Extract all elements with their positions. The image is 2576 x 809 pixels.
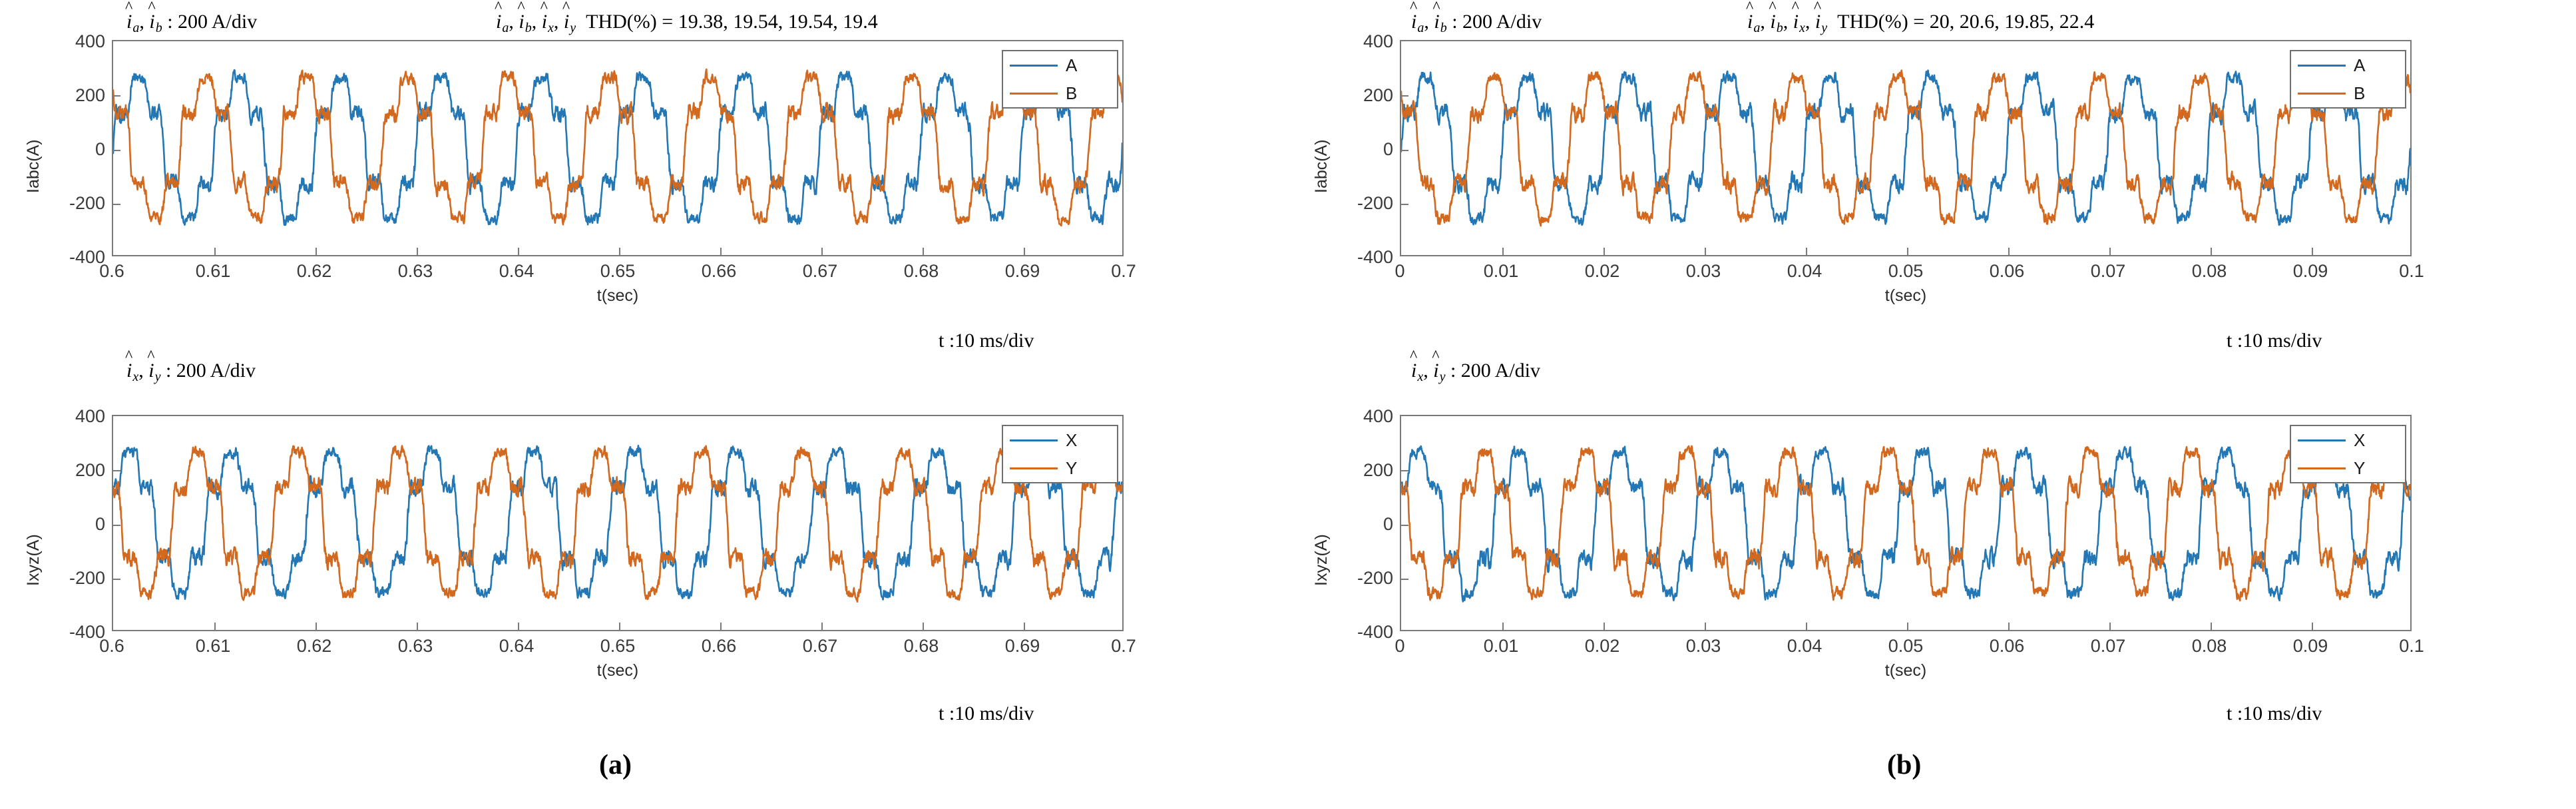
y-tickmark [1401,525,1408,526]
legend-line-icon-blue [2298,65,2346,67]
thd-values-a: 19.38, 19.54, 19.54, 19.4 [678,11,878,33]
ytick-a-top-3: -200 [41,193,105,214]
xtick-b-bot-7: 0.07 [2075,636,2141,657]
ytick-b-bot-2: 0 [1329,514,1393,535]
waveform-b-top [1401,41,2410,255]
x-tickmark [2211,623,2212,630]
legend-line-icon-blue [1010,65,1058,67]
legend-item-b-bot-0[interactable]: X [2291,426,2405,454]
x-tickmark [1024,623,1025,630]
xtick-a-top-5: 0.65 [584,261,651,282]
ytick-a-top-1: 200 [41,85,105,106]
plot-area-a-bottom [112,415,1124,631]
x-tickmark [2312,248,2313,255]
time-div-b-bottom: t :10 ms/div [2227,702,2322,725]
xtick-a-bot-7: 0.67 [787,636,853,657]
series-line-Y [113,446,1122,602]
x-tickmark [2211,248,2212,255]
time-div-a-bottom: t :10 ms/div [939,702,1034,725]
x-tickmark [518,248,519,255]
xtick-b-bot-0: 0 [1367,636,1433,657]
x-tickmark [923,623,924,630]
xtick-a-top-7: 0.67 [787,261,853,282]
xtick-b-bot-2: 0.02 [1569,636,1635,657]
xtick-a-bot-10: 0.7 [1090,636,1157,657]
xtick-b-bot-1: 0.01 [1468,636,1534,657]
x-tickmark [720,248,722,255]
legend-line-icon-orange [1010,93,1058,95]
x-tickmark [316,623,317,630]
thd-values-b: 20, 20.6, 19.85, 22.4 [1930,11,2095,33]
legend-a-bottom[interactable]: X Y [1002,425,1118,483]
xtick-b-top-4: 0.04 [1771,261,1838,282]
y-tickmark [113,470,120,471]
annotation-iab-scale-a: i^a, i^b : 200 A/div [126,11,257,36]
y-tickmark [113,95,120,97]
legend-item-a-bot-0[interactable]: X [1003,426,1117,454]
annotation-ixy-scale-b: i^x, i^y : 200 A/div [1411,360,1540,385]
xtick-b-bot-10: 0.1 [2378,636,2445,657]
xtick-b-bot-4: 0.04 [1771,636,1838,657]
series-line-X [113,445,1122,599]
y-tickmark [113,579,120,580]
legend-label-b-bot-1: Y [2354,458,2365,479]
ytick-a-bot-2: 0 [41,514,105,535]
x-tickmark [2312,623,2313,630]
x-tickmark [1705,248,1706,255]
legend-line-icon-blue [2298,439,2346,441]
series-line-X [1401,446,2410,601]
xtick-b-top-7: 0.07 [2075,261,2141,282]
legend-line-icon-orange [2298,467,2346,469]
legend-b-bottom[interactable]: X Y [2290,425,2406,483]
x-tickmark [2109,623,2111,630]
legend-label-b-bot-0: X [2354,430,2365,451]
x-tickmark [214,623,216,630]
legend-item-a-top-0[interactable]: A [1003,51,1117,79]
xtick-a-top-0: 0.6 [79,261,145,282]
xtick-b-top-2: 0.02 [1569,261,1635,282]
x-tickmark [518,623,519,630]
y-tickmark [113,150,120,151]
y-tickmark [1401,150,1408,151]
xtick-a-top-3: 0.63 [382,261,449,282]
subfigure-caption-b: (b) [1887,749,1921,781]
x-tickmark [1024,248,1025,255]
legend-label-b-top-0: A [2354,55,2365,76]
xtick-a-bot-4: 0.64 [483,636,550,657]
ytick-b-bot-3: -200 [1329,568,1393,589]
x-tickmark [821,623,823,630]
ytick-b-bot-0: 400 [1329,406,1393,427]
x-tickmark [2008,623,2010,630]
ytick-b-bot-1: 200 [1329,460,1393,481]
ylabel-a-top: Iabc(A) [24,139,43,193]
legend-label-a-top-0: A [1066,55,1077,76]
ytick-a-top-0: 400 [41,31,105,52]
xtick-a-bot-3: 0.63 [382,636,449,657]
xlabel-a-top: t(sec) [551,286,684,306]
xtick-a-bot-9: 0.69 [989,636,1056,657]
x-tickmark [316,248,317,255]
legend-line-icon-blue [1010,439,1058,441]
ylabel-a-bottom: Ixyz(A) [24,534,43,586]
legend-item-a-top-1[interactable]: B [1003,79,1117,107]
annotation-thd-a: i^a, i^b, i^x, i^y THD(%) = 19.38, 19.54… [496,11,878,36]
x-tickmark [923,248,924,255]
xtick-b-top-8: 0.08 [2176,261,2243,282]
ylabel-b-top: Iabc(A) [1312,139,1331,193]
xtick-a-top-8: 0.68 [888,261,955,282]
legend-b-top[interactable]: A B [2290,50,2406,109]
annotation-ixy-scale-a: i^x, i^y : 200 A/div [126,360,256,385]
x-tickmark [1806,623,1807,630]
waveform-a-top [113,41,1122,255]
figure-root: i^a, i^b : 200 A/div i^a, i^b, i^x, i^y … [0,0,2576,809]
ytick-a-top-2: 0 [41,139,105,160]
xtick-a-top-1: 0.61 [180,261,246,282]
xtick-a-top-2: 0.62 [281,261,347,282]
legend-item-b-bot-1[interactable]: Y [2291,454,2405,482]
xtick-b-top-3: 0.03 [1670,261,1737,282]
x-tickmark [1806,248,1807,255]
plot-area-a-top [112,40,1124,256]
plot-area-b-top [1400,40,2412,256]
xtick-b-bot-5: 0.05 [1872,636,1939,657]
xtick-b-top-6: 0.06 [1974,261,2040,282]
ytick-b-top-3: -200 [1329,193,1393,214]
x-tickmark [2008,248,2010,255]
xtick-b-bot-3: 0.03 [1670,636,1737,657]
legend-label-a-top-1: B [1066,83,1077,104]
plot-area-b-bottom [1400,415,2412,631]
xtick-b-top-0: 0 [1367,261,1433,282]
xtick-a-bot-8: 0.68 [888,636,955,657]
x-tickmark [1907,248,1908,255]
xtick-a-bot-6: 0.66 [686,636,752,657]
legend-line-icon-orange [2298,93,2346,95]
time-div-b-top: t :10 ms/div [2227,330,2322,352]
x-tickmark [1907,623,1908,630]
x-tickmark [619,248,620,255]
legend-label-a-bot-1: Y [1066,458,1077,479]
xtick-b-bot-6: 0.06 [1974,636,2040,657]
ytick-b-top-2: 0 [1329,139,1393,160]
annotation-iab-scale-b: i^a, i^b : 200 A/div [1411,11,1542,36]
y-tickmark [1401,95,1408,97]
xtick-a-top-4: 0.64 [483,261,550,282]
panel-a: i^a, i^b : 200 A/div i^a, i^b, i^x, i^y … [0,0,1288,809]
waveform-b-bottom [1401,416,2410,630]
x-tickmark [1705,623,1706,630]
legend-item-b-top-1[interactable]: B [2291,79,2405,107]
x-tickmark [417,623,418,630]
x-tickmark [214,248,216,255]
legend-a-top[interactable]: A B [1002,50,1118,109]
xtick-a-top-6: 0.66 [686,261,752,282]
annotation-thd-b: i^a, i^b, i^x, i^y THD(%) = 20, 20.6, 19… [1747,11,2094,36]
y-tickmark [113,525,120,526]
ytick-a-bot-0: 400 [41,406,105,427]
xtick-a-top-10: 0.7 [1090,261,1157,282]
legend-label-b-top-1: B [2354,83,2365,104]
xtick-a-bot-1: 0.61 [180,636,246,657]
x-tickmark [720,623,722,630]
x-tickmark [2109,248,2111,255]
xtick-a-bot-0: 0.6 [79,636,145,657]
x-tickmark [1604,248,1605,255]
xtick-b-top-5: 0.05 [1872,261,1939,282]
x-tickmark [1502,623,1504,630]
waveform-a-bottom [113,416,1122,630]
xtick-b-bot-8: 0.08 [2176,636,2243,657]
ylabel-b-bottom: Ixyz(A) [1312,534,1331,586]
xlabel-b-bottom: t(sec) [1839,661,1972,680]
panel-b: i^a, i^b : 200 A/div i^a, i^b, i^x, i^y … [1288,0,2576,809]
y-tickmark [1401,470,1408,471]
ytick-a-bot-1: 200 [41,460,105,481]
series-line-Y [1401,445,2410,601]
x-tickmark [1604,623,1605,630]
legend-item-b-top-0[interactable]: A [2291,51,2405,79]
time-div-a-top: t :10 ms/div [939,330,1034,352]
xtick-b-top-10: 0.1 [2378,261,2445,282]
y-tickmark [1401,204,1408,205]
x-tickmark [1502,248,1504,255]
ytick-a-bot-3: -200 [41,568,105,589]
x-tickmark [821,248,823,255]
y-tickmark [1401,579,1408,580]
xtick-b-top-1: 0.01 [1468,261,1534,282]
subfigure-caption-a: (a) [599,749,632,781]
xtick-a-bot-2: 0.62 [281,636,347,657]
legend-line-icon-orange [1010,467,1058,469]
x-tickmark [417,248,418,255]
ytick-b-top-0: 400 [1329,31,1393,52]
xtick-b-bot-9: 0.09 [2277,636,2344,657]
y-tickmark [113,204,120,205]
legend-label-a-bot-0: X [1066,430,1077,451]
ytick-b-top-1: 200 [1329,85,1393,106]
xtick-b-top-9: 0.09 [2277,261,2344,282]
legend-item-a-bot-1[interactable]: Y [1003,454,1117,482]
xlabel-a-bottom: t(sec) [551,661,684,680]
xlabel-b-top: t(sec) [1839,286,1972,306]
xtick-a-top-9: 0.69 [989,261,1056,282]
x-tickmark [619,623,620,630]
xtick-a-bot-5: 0.65 [584,636,651,657]
